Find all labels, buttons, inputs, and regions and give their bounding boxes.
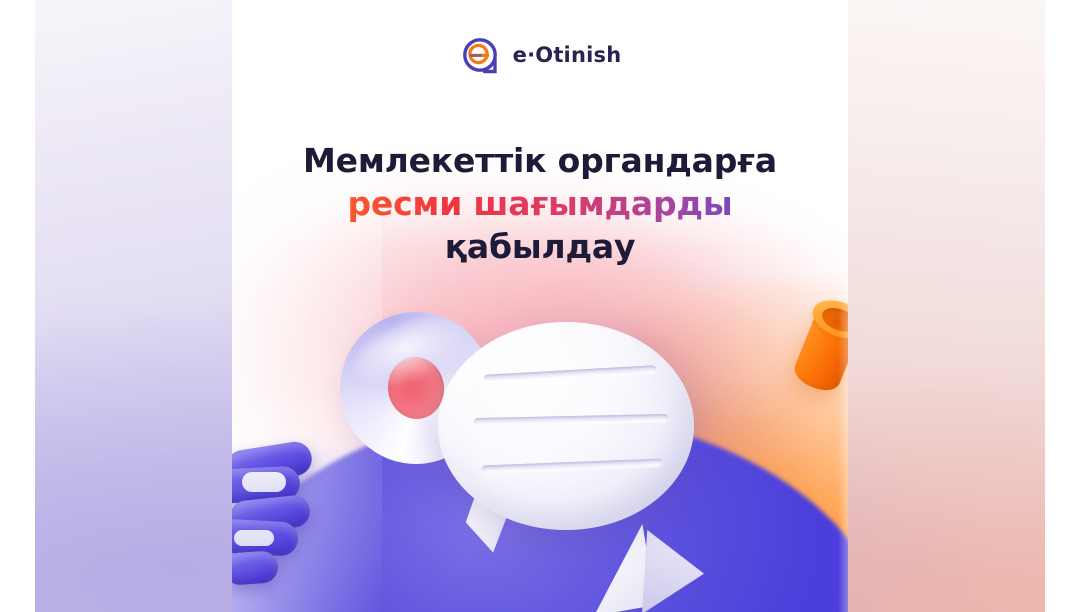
- illustration-scene: [232, 0, 848, 612]
- brand-logo: e·Otinish: [232, 34, 848, 76]
- bubble-text-line: [482, 459, 662, 473]
- speech-bubble-icon: [438, 322, 694, 562]
- blue-spiral-coil-icon: [232, 446, 340, 606]
- e-otinish-logo-icon: [459, 34, 501, 76]
- brand-name: e·Otinish: [513, 43, 622, 67]
- headline-line-2: ресми шағымдарды: [252, 183, 828, 226]
- speech-bubble-body: [438, 322, 694, 530]
- headline-line-1: Мемлекеттік органдарға: [252, 140, 828, 183]
- page-title: Мемлекеттік органдарға ресми шағымдарды …: [252, 140, 828, 269]
- content-card: e·Otinish Мемлекеттік органдарға ресми ш…: [232, 0, 848, 612]
- promo-banner: e·Otinish Мемлекеттік органдарға ресми ш…: [0, 0, 1080, 612]
- card-right-edge-fade: [838, 0, 848, 612]
- coil-gap: [242, 472, 286, 492]
- coil-gap: [234, 530, 274, 546]
- bubble-text-line: [474, 414, 668, 425]
- bubble-text-line: [484, 365, 656, 382]
- coil-segment: [232, 550, 279, 586]
- headline-line-3: қабылдау: [252, 226, 828, 269]
